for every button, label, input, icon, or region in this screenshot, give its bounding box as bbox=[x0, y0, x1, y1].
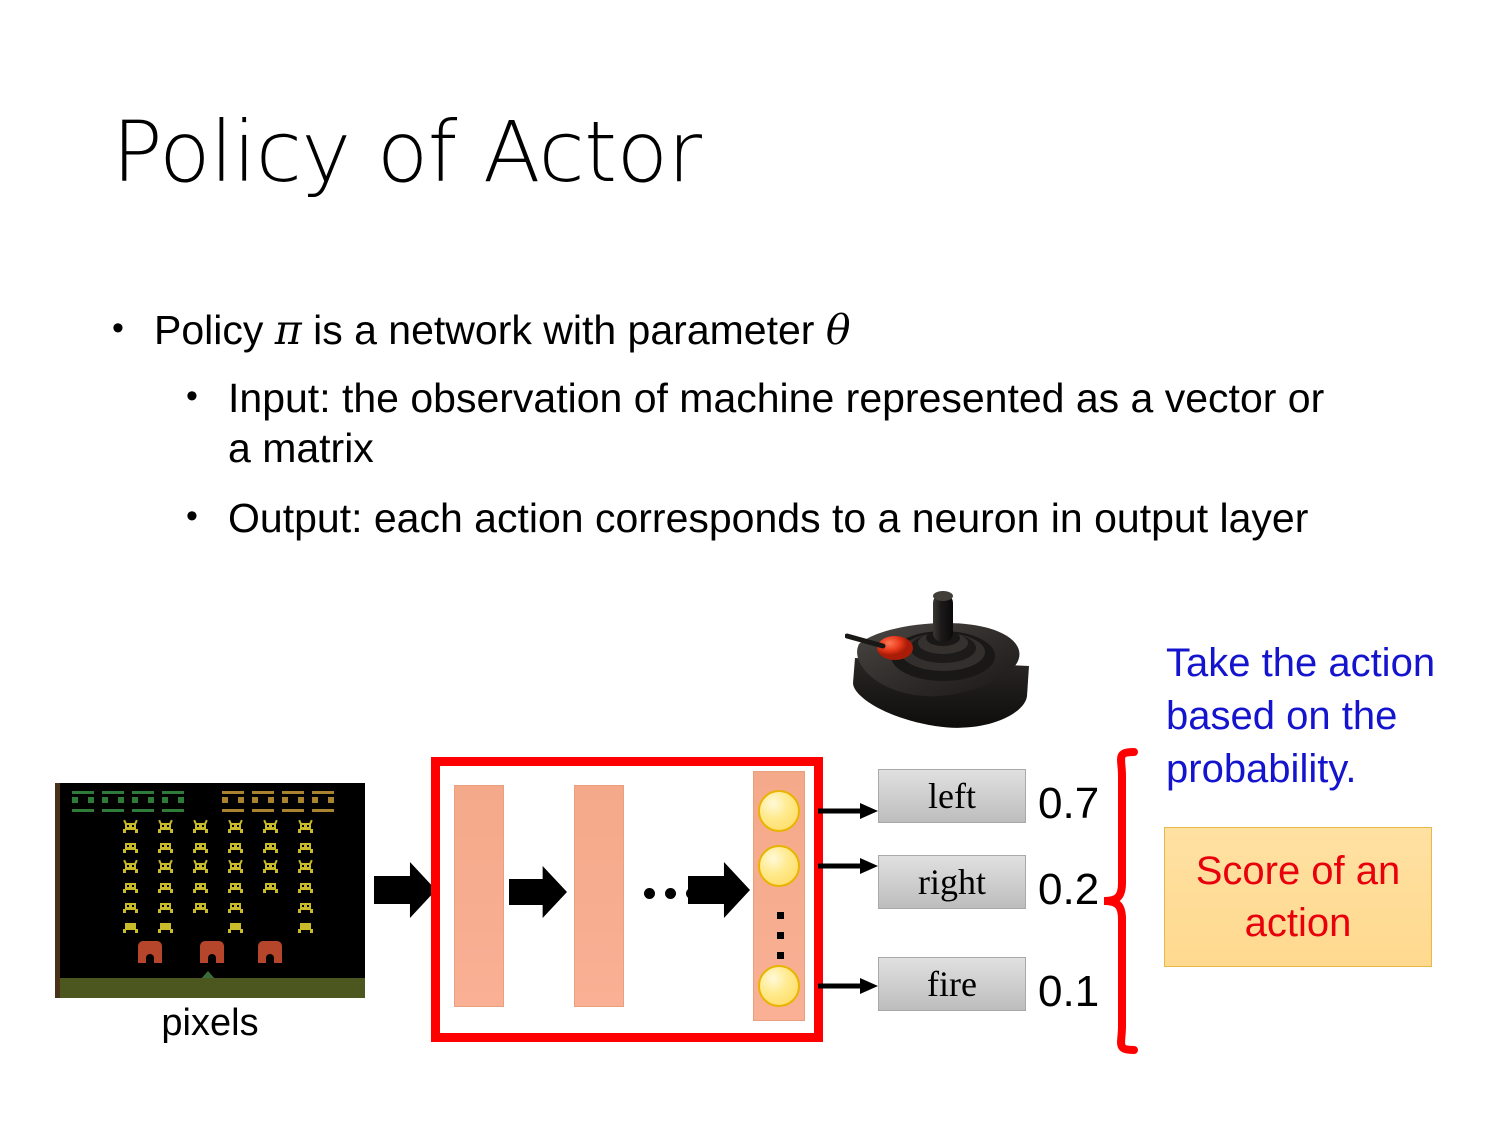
score-of-action-box: Score of an action bbox=[1164, 827, 1432, 967]
invader bbox=[122, 900, 139, 913]
invader bbox=[157, 900, 174, 913]
invader bbox=[192, 900, 209, 913]
invader bbox=[297, 920, 314, 933]
input-arrow-icon bbox=[374, 862, 436, 918]
action-box-fire[interactable]: fire bbox=[878, 957, 1026, 1011]
bunker bbox=[258, 941, 282, 963]
invader bbox=[227, 920, 244, 933]
hud-digit bbox=[102, 791, 124, 812]
probability-left: 0.7 bbox=[1038, 779, 1099, 829]
bullet-policy-text: Policy π is a network with parameter θ bbox=[154, 305, 851, 355]
invader bbox=[297, 880, 314, 893]
bullet-marker: • bbox=[112, 305, 154, 352]
invader bbox=[297, 840, 314, 853]
action-box-left[interactable]: left bbox=[878, 769, 1026, 823]
bullet-output-text: Output: each action corresponds to a neu… bbox=[228, 493, 1358, 543]
pi-symbol: π bbox=[275, 306, 302, 354]
theta-symbol: θ bbox=[826, 306, 851, 354]
bunker bbox=[200, 941, 224, 963]
hud-digit bbox=[162, 791, 184, 812]
invader bbox=[227, 880, 244, 893]
neuron-to-action-arrow-icon bbox=[818, 856, 878, 876]
hud-digit bbox=[72, 791, 94, 812]
invader bbox=[122, 840, 139, 853]
invader bbox=[157, 880, 174, 893]
bullet-marker: • bbox=[186, 493, 228, 540]
slide-canvas: Policy of Actor • Policy π is a network … bbox=[0, 0, 1500, 1125]
page-title: Policy of Actor bbox=[112, 108, 702, 196]
vertical-ellipsis-dot-icon bbox=[777, 952, 784, 959]
probability-right: 0.2 bbox=[1038, 865, 1099, 915]
invader bbox=[192, 880, 209, 893]
invader bbox=[262, 820, 279, 833]
bullet-input-text: Input: the observation of machine repres… bbox=[228, 373, 1358, 473]
vertical-ellipsis-dot-icon bbox=[777, 912, 784, 919]
bullet-output: • Output: each action corresponds to a n… bbox=[186, 493, 1446, 543]
invader bbox=[227, 820, 244, 833]
input-label: pixels bbox=[55, 1002, 365, 1045]
invader bbox=[297, 820, 314, 833]
invader bbox=[297, 860, 314, 873]
hud-digit bbox=[312, 791, 334, 812]
game-hud bbox=[60, 791, 365, 807]
red-brace bbox=[1100, 748, 1146, 1054]
take-action-note: Take the action based on the probability… bbox=[1166, 637, 1486, 795]
invader bbox=[122, 920, 139, 933]
bunker bbox=[138, 941, 162, 963]
bullet-policy-middle: is a network with parameter bbox=[302, 307, 826, 353]
invader bbox=[227, 900, 244, 913]
game-ground bbox=[60, 978, 365, 998]
invader bbox=[157, 920, 174, 933]
hud-digit bbox=[222, 791, 244, 812]
invader bbox=[157, 820, 174, 833]
hud-digit bbox=[132, 791, 154, 812]
invader bbox=[192, 860, 209, 873]
ellipsis-dot-icon bbox=[665, 888, 676, 899]
space-invaders-screenshot bbox=[55, 783, 365, 998]
invader bbox=[157, 840, 174, 853]
invader bbox=[262, 880, 279, 893]
invader bbox=[122, 860, 139, 873]
invader bbox=[122, 820, 139, 833]
output-neuron bbox=[758, 790, 800, 832]
invader bbox=[122, 880, 139, 893]
invader bbox=[297, 900, 314, 913]
invader bbox=[192, 820, 209, 833]
invader bbox=[157, 860, 174, 873]
neuron-to-action-arrow-icon bbox=[818, 801, 878, 821]
probability-fire: 0.1 bbox=[1038, 967, 1099, 1017]
bullet-input: • Input: the observation of machine repr… bbox=[186, 373, 1366, 473]
invader bbox=[227, 840, 244, 853]
hidden-layer-2 bbox=[574, 785, 624, 1007]
invader bbox=[192, 840, 209, 853]
neuron-to-action-arrow-icon bbox=[818, 976, 878, 996]
hud-digit bbox=[282, 791, 304, 812]
output-neuron bbox=[758, 845, 800, 887]
bullet-policy-prefix: Policy bbox=[154, 307, 275, 353]
hidden-layer-1 bbox=[454, 785, 504, 1007]
hud-digit bbox=[252, 791, 274, 812]
invader bbox=[262, 840, 279, 853]
bullet-marker: • bbox=[186, 373, 228, 420]
invader bbox=[227, 860, 244, 873]
vertical-ellipsis-dot-icon bbox=[777, 932, 784, 939]
invader bbox=[262, 860, 279, 873]
output-neuron bbox=[758, 965, 800, 1007]
ellipsis-dot-icon bbox=[644, 888, 655, 899]
bullet-policy: • Policy π is a network with parameter θ bbox=[112, 305, 851, 355]
atari-joystick-icon bbox=[845, 588, 1045, 763]
action-box-right[interactable]: right bbox=[878, 855, 1026, 909]
